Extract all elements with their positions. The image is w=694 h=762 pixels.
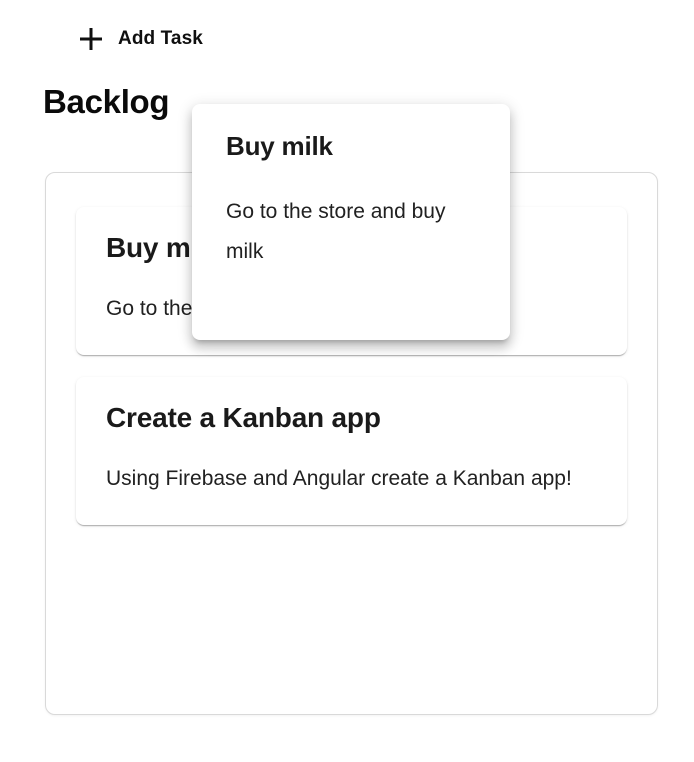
- drag-preview-card[interactable]: Buy milk Go to the store and buy milk: [192, 104, 510, 340]
- task-card-description: Using Firebase and Angular create a Kanb…: [106, 459, 597, 499]
- kanban-board: Add Task Backlog Buy milk Go to the stor…: [0, 0, 694, 762]
- plus-icon: [78, 26, 104, 52]
- drag-preview-title: Buy milk: [226, 130, 476, 162]
- task-card-title: Create a Kanban app: [106, 401, 597, 435]
- column-title: Backlog: [43, 82, 169, 122]
- add-task-label: Add Task: [118, 28, 203, 50]
- add-task-button[interactable]: Add Task: [70, 18, 215, 60]
- task-card[interactable]: Create a Kanban app Using Firebase and A…: [76, 377, 627, 525]
- drag-preview-description: Go to the store and buy milk: [226, 192, 476, 272]
